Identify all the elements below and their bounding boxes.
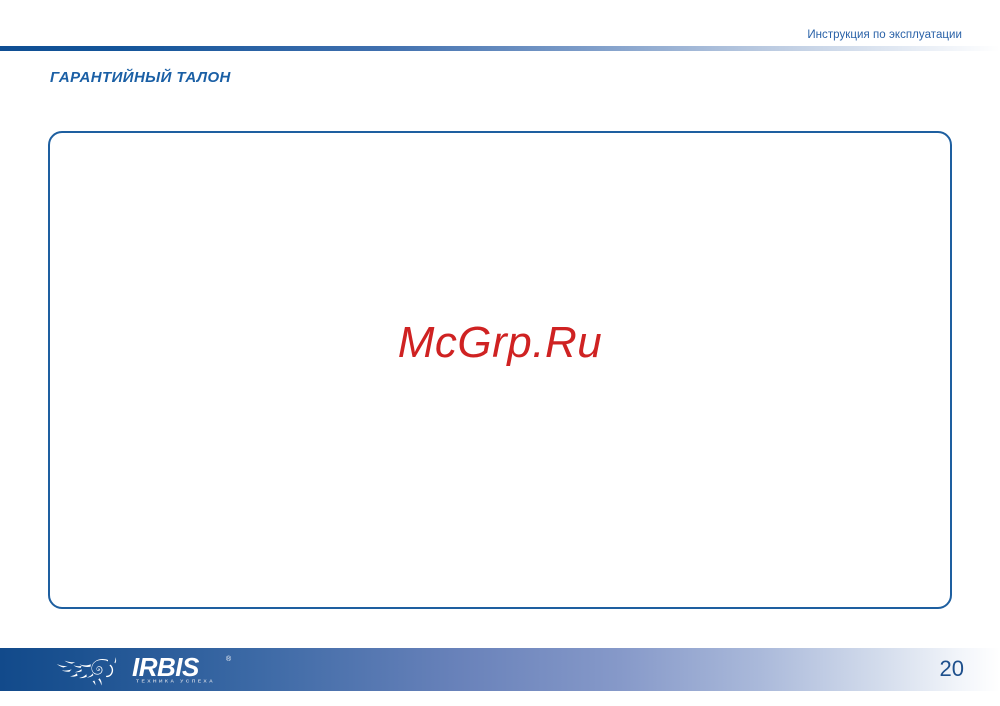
header-caption: Инструкция по эксплуатации: [807, 29, 962, 41]
page-title: ГАРАНТИЙНЫЙ ТАЛОН: [50, 69, 231, 86]
page-number: 20: [940, 655, 964, 683]
warranty-card-box: McGrp.Ru: [48, 131, 952, 609]
page-header: Инструкция по эксплуатации: [0, 0, 1000, 52]
brand-tagline: ТЕХНИКА УСПЕХА: [136, 679, 215, 684]
brand-wordmark: IRBIS: [132, 653, 199, 681]
page-footer: IRBIS ® ТЕХНИКА УСПЕХА 20: [0, 648, 1000, 691]
header-gradient-rule: [0, 46, 1000, 51]
snow-leopard-icon: [50, 654, 134, 686]
watermark-text: McGrp.Ru: [50, 318, 950, 368]
registered-trademark-icon: ®: [226, 656, 231, 664]
brand-logo: IRBIS ® ТЕХНИКА УСПЕХА: [50, 652, 240, 688]
